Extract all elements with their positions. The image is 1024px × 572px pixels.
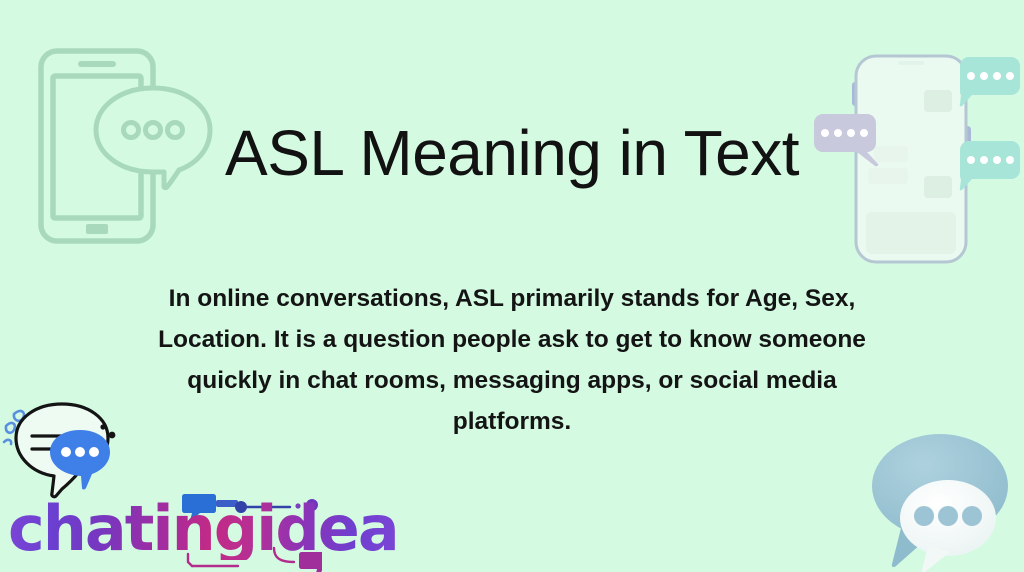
front-bubble [900, 480, 996, 572]
teal-chat-bubble-bottom [960, 141, 1020, 190]
lavender-chat-bubble [814, 114, 878, 166]
logo-wordmark-container: chatingidea [2, 492, 322, 572]
logo-wordmark-text: chatingidea [8, 498, 398, 560]
chat-bubble-logo-icon [2, 392, 127, 504]
brand-logo[interactable]: chatingidea [2, 392, 322, 572]
slide-canvas: ASL Meaning in Text [0, 0, 1024, 572]
teal-chat-bubble-top [960, 57, 1020, 106]
double-chat-bubble-icon [862, 424, 1024, 572]
phone-with-chat-bubbles-icon [812, 30, 1024, 280]
